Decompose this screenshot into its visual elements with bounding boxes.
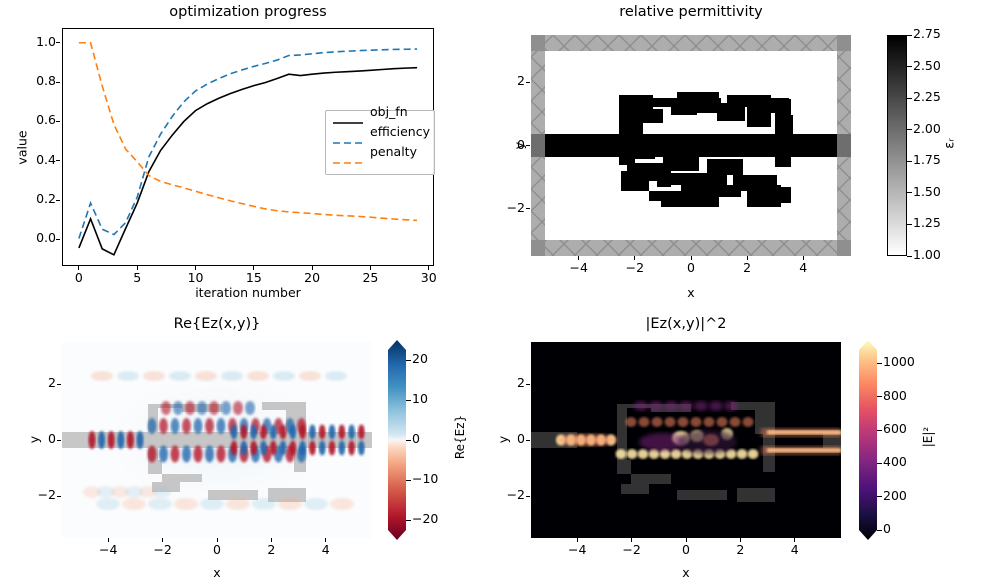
- intensity-blob: [730, 417, 741, 427]
- field-lobe: [319, 441, 326, 456]
- field-lobe: [193, 446, 202, 463]
- tick-mark: [526, 384, 530, 385]
- legend-label-obj-fn: obj_fn: [370, 104, 408, 119]
- tick-mark: [56, 160, 60, 161]
- xtick-x-3: 2: [731, 260, 763, 275]
- field-lobe: [96, 498, 120, 510]
- field-lobe: [299, 371, 321, 381]
- tick-mark: [406, 400, 411, 401]
- ytick-ez2-0: −2: [495, 487, 525, 502]
- yaxis-label-optimization: value: [15, 118, 30, 178]
- xtick-10: 10: [180, 270, 212, 285]
- field-lobe: [330, 498, 354, 510]
- tick-mark: [907, 35, 912, 36]
- tick-mark: [794, 538, 795, 542]
- colorbar-ez-intensity: [859, 340, 877, 540]
- field-lobe: [153, 486, 171, 498]
- field-lobe: [197, 401, 207, 415]
- ytick-y-0: −2: [495, 200, 525, 215]
- tick-mark: [57, 440, 61, 441]
- field-lobe: [205, 446, 214, 463]
- tick-mark: [526, 82, 530, 83]
- ez-intensity-image: [531, 342, 841, 538]
- field-lobe: [289, 425, 296, 440]
- intensity-blob: [694, 401, 708, 411]
- xaxis-label-re-ez: x: [62, 565, 372, 580]
- cbtick-ez2-1: 200: [883, 488, 929, 503]
- field-lobe: [117, 431, 124, 449]
- field-lobe: [194, 418, 203, 434]
- xtick-30: 30: [413, 270, 445, 285]
- tick-mark: [803, 256, 804, 260]
- field-lobe: [309, 441, 316, 456]
- field-lobe: [148, 418, 157, 434]
- tick-mark: [907, 66, 912, 67]
- xtick-5: 5: [121, 270, 153, 285]
- xaxis-label-ez-intensity: x: [531, 565, 841, 580]
- cbtick-eps-6: 2.50: [913, 58, 953, 73]
- intensity-blob: [679, 401, 693, 411]
- field-lobe: [319, 425, 326, 440]
- xtick-ez2-2: 0: [670, 542, 702, 557]
- tick-mark: [406, 360, 411, 361]
- legend-lines-svg: [325, 110, 435, 175]
- field-lobe: [231, 425, 238, 440]
- tick-mark: [691, 256, 692, 260]
- xtick-ez2-1: −2: [616, 542, 648, 557]
- tick-mark: [325, 538, 326, 542]
- xaxis-label-optimization: iteration number: [62, 285, 434, 300]
- output-glow-lower: [761, 446, 841, 455]
- field-lobe: [205, 418, 214, 434]
- yaxis-label-ez-intensity: y: [496, 420, 511, 460]
- intensity-blob: [709, 401, 723, 411]
- field-lobe: [185, 401, 195, 415]
- intensity-blob: [639, 417, 650, 427]
- field-lobe: [280, 425, 287, 440]
- tick-mark: [577, 538, 578, 542]
- tick-mark: [877, 396, 882, 397]
- field-lobe: [250, 441, 257, 456]
- field-lobe: [231, 441, 238, 456]
- field-lobe: [159, 418, 168, 434]
- tick-mark: [370, 266, 371, 270]
- ytick-1.0: 1.0: [22, 34, 56, 49]
- field-lobe: [174, 498, 198, 510]
- tick-mark: [907, 161, 912, 162]
- xtick-x-4: 4: [787, 260, 819, 275]
- field-lobe: [148, 498, 172, 510]
- intensity-blob: [634, 401, 648, 411]
- ytick-reez-0: −2: [26, 487, 56, 502]
- cbtick-reez-1: −10: [412, 471, 454, 486]
- tick-mark: [56, 200, 60, 201]
- tick-mark: [253, 266, 254, 270]
- ytick-y-2: 2: [495, 73, 525, 88]
- tick-mark: [57, 384, 61, 385]
- tick-mark: [56, 121, 60, 122]
- tick-mark: [57, 496, 61, 497]
- xtick-reez-1: −2: [147, 542, 179, 557]
- intensity-blob: [704, 417, 715, 427]
- field-lobe: [358, 425, 365, 440]
- colorbar-label-ez-intensity: |E|²: [921, 402, 935, 472]
- intensity-blob: [665, 417, 676, 427]
- field-lobe: [169, 371, 191, 381]
- field-lobe: [299, 441, 306, 456]
- field-lobe: [289, 441, 296, 456]
- field-lobe: [250, 425, 257, 440]
- cbtick-reez-0: −20: [412, 511, 454, 526]
- field-lobe: [260, 441, 267, 456]
- field-lobe: [338, 425, 345, 440]
- intensity-blob: [748, 449, 759, 459]
- tick-mark: [56, 239, 60, 240]
- cbtick-eps-0: 1.00: [913, 247, 953, 262]
- tick-mark: [526, 208, 530, 209]
- tick-mark: [526, 496, 530, 497]
- colorbar-label-permittivity: εᵣ: [943, 114, 958, 174]
- tick-mark: [740, 538, 741, 542]
- legend-label-efficiency: efficiency: [370, 124, 430, 139]
- panel-optimization-progress: optimization progress 0.00.20.40.60.81.0…: [0, 0, 495, 300]
- field-lobe: [309, 425, 316, 440]
- tick-mark: [578, 256, 579, 260]
- field-lobe: [88, 431, 95, 449]
- intensity-blob: [557, 434, 617, 446]
- tick-mark: [162, 538, 163, 542]
- cbtick-eps-5: 2.25: [913, 89, 953, 104]
- intensity-blob: [724, 401, 738, 411]
- field-lobe: [216, 446, 225, 463]
- panel-title-permittivity: relative permittivity: [531, 4, 851, 20]
- field-lobe: [161, 401, 171, 415]
- intensity-blob: [737, 449, 748, 459]
- field-lobe: [122, 498, 146, 510]
- xtick-25: 25: [354, 270, 386, 285]
- tick-mark: [631, 538, 632, 542]
- tick-mark: [526, 440, 530, 441]
- intensity-blob: [691, 417, 702, 427]
- intensity-blob: [626, 417, 637, 427]
- field-lobe: [270, 425, 277, 440]
- field-lobe: [91, 371, 113, 381]
- re-ez-image: [62, 342, 372, 538]
- field-lobe: [270, 441, 277, 456]
- field-lobe: [171, 418, 180, 434]
- tick-mark: [907, 256, 912, 257]
- xtick-x-0: −4: [563, 260, 595, 275]
- yaxis-label-permittivity: y: [512, 116, 527, 176]
- field-lobe: [195, 371, 217, 381]
- tick-mark: [907, 224, 912, 225]
- panel-title-ez-intensity: |Ez(x,y)|^2: [531, 316, 841, 332]
- field-lobe: [98, 431, 105, 449]
- cbtick-ez2-0: 0: [883, 521, 929, 536]
- legend-label-penalty: penalty: [370, 144, 417, 159]
- field-lobe: [348, 425, 355, 440]
- panel-title-re-ez: Re{Ez(x,y)}: [62, 316, 372, 332]
- tick-mark: [526, 145, 530, 146]
- intensity-blob: [743, 417, 754, 427]
- intensity-blob: [678, 417, 689, 427]
- field-lobe: [200, 498, 224, 510]
- xtick-20: 20: [296, 270, 328, 285]
- intensity-blob: [652, 417, 663, 427]
- cbtick-reez-3: 10: [412, 391, 454, 406]
- xtick-x-2: 0: [675, 260, 707, 275]
- cbtick-reez-4: 20: [412, 351, 454, 366]
- cbtick-ez2-5: 1000: [883, 354, 929, 369]
- tick-mark: [271, 538, 272, 542]
- panel-ez-intensity: |Ez(x,y)|^2: [495, 300, 989, 588]
- panel-re-ez: Re{Ez(x,y)}: [0, 300, 495, 588]
- field-lobe: [182, 446, 191, 463]
- xtick-15: 15: [238, 270, 270, 285]
- yaxis-label-re-ez: y: [27, 420, 42, 460]
- field-lobe: [338, 441, 345, 456]
- field-lobe: [325, 371, 347, 381]
- tick-mark: [907, 129, 912, 130]
- tick-mark: [747, 256, 748, 260]
- tick-mark: [428, 266, 429, 270]
- tick-mark: [907, 98, 912, 99]
- intensity-blob: [638, 449, 649, 459]
- tick-mark: [195, 266, 196, 270]
- tick-mark: [877, 363, 882, 364]
- panel-relative-permittivity: relative permittivity: [495, 0, 989, 300]
- field-lobe: [329, 441, 336, 456]
- xtick-ez2-0: −4: [561, 542, 593, 557]
- ytick-0.0: 0.0: [22, 230, 56, 245]
- xtick-reez-2: 0: [201, 542, 233, 557]
- xtick-0: 0: [63, 270, 95, 285]
- tick-mark: [877, 530, 882, 531]
- intensity-blob: [616, 449, 627, 459]
- tick-mark: [686, 538, 687, 542]
- tick-mark: [56, 42, 60, 43]
- field-lobe: [170, 446, 179, 463]
- xtick-x-1: −2: [619, 260, 651, 275]
- field-lobe: [147, 446, 156, 463]
- xtick-reez-0: −4: [92, 542, 124, 557]
- tick-mark: [56, 82, 60, 83]
- field-lobe: [260, 425, 267, 440]
- intensity-blob: [649, 401, 663, 411]
- xtick-reez-3: 2: [255, 542, 287, 557]
- cbtick-reez-2: 0: [412, 431, 454, 446]
- xaxis-label-permittivity: x: [531, 285, 851, 300]
- field-lobe: [273, 371, 295, 381]
- field-lobe: [159, 446, 168, 463]
- field-lobe: [221, 371, 243, 381]
- cbtick-eps-2: 1.50: [913, 184, 953, 199]
- ytick-0.8: 0.8: [22, 73, 56, 88]
- field-lobe: [182, 418, 191, 434]
- field-lobe: [209, 401, 219, 415]
- xtick-reez-4: 4: [310, 542, 342, 557]
- field-lobe: [117, 371, 139, 381]
- tick-mark: [217, 538, 218, 542]
- tick-mark: [877, 496, 882, 497]
- tick-mark: [877, 430, 882, 431]
- field-lobe: [233, 401, 243, 415]
- field-lobe: [221, 401, 231, 415]
- field-lobe: [226, 498, 250, 510]
- field-lobe: [278, 498, 302, 510]
- colorbar-re-ez: [388, 340, 406, 540]
- field-lobe: [247, 371, 269, 381]
- tick-mark: [312, 266, 313, 270]
- intensity-blob: [671, 449, 682, 459]
- field-lobe: [358, 441, 365, 456]
- field-lobe: [127, 431, 134, 449]
- ytick-0.2: 0.2: [22, 191, 56, 206]
- field-lobe: [252, 498, 276, 510]
- field-lobe: [173, 401, 183, 415]
- tick-mark: [907, 192, 912, 193]
- field-lobe: [108, 431, 115, 449]
- panel-title-optimization: optimization progress: [62, 4, 434, 20]
- field-lobe: [245, 401, 255, 415]
- cbtick-ez2-4: 800: [883, 388, 929, 403]
- colorbar-label-re-ez: Re{Ez}: [453, 402, 467, 472]
- intensity-blob: [627, 449, 638, 459]
- colorbar-permittivity: [887, 35, 907, 256]
- intensity-blob: [677, 430, 737, 454]
- xtick-ez2-4: 4: [779, 542, 811, 557]
- tick-mark: [877, 463, 882, 464]
- tick-mark: [634, 256, 635, 260]
- tick-mark: [406, 440, 411, 441]
- tick-mark: [108, 538, 109, 542]
- field-lobe: [299, 425, 306, 440]
- ytick-reez-2: 2: [26, 375, 56, 390]
- field-lobe: [240, 441, 247, 456]
- field-lobe: [280, 441, 287, 456]
- intensity-blob: [664, 401, 678, 411]
- tick-mark: [78, 266, 79, 270]
- field-lobe: [304, 498, 328, 510]
- cbtick-eps-7: 2.75: [913, 26, 953, 41]
- ytick-ez2-2: 2: [495, 375, 525, 390]
- field-lobe: [348, 441, 355, 456]
- field-lobe: [143, 371, 165, 381]
- field-lobe: [240, 425, 247, 440]
- intensity-blob: [717, 417, 728, 427]
- cbtick-eps-1: 1.25: [913, 215, 953, 230]
- field-lobe: [136, 431, 143, 449]
- field-lobe: [217, 418, 226, 434]
- field-lobe: [329, 425, 336, 440]
- permittivity-image: [531, 35, 851, 256]
- xtick-ez2-3: 2: [724, 542, 756, 557]
- output-glow-upper: [761, 428, 841, 437]
- tick-mark: [406, 520, 411, 521]
- tick-mark: [137, 266, 138, 270]
- tick-mark: [406, 480, 411, 481]
